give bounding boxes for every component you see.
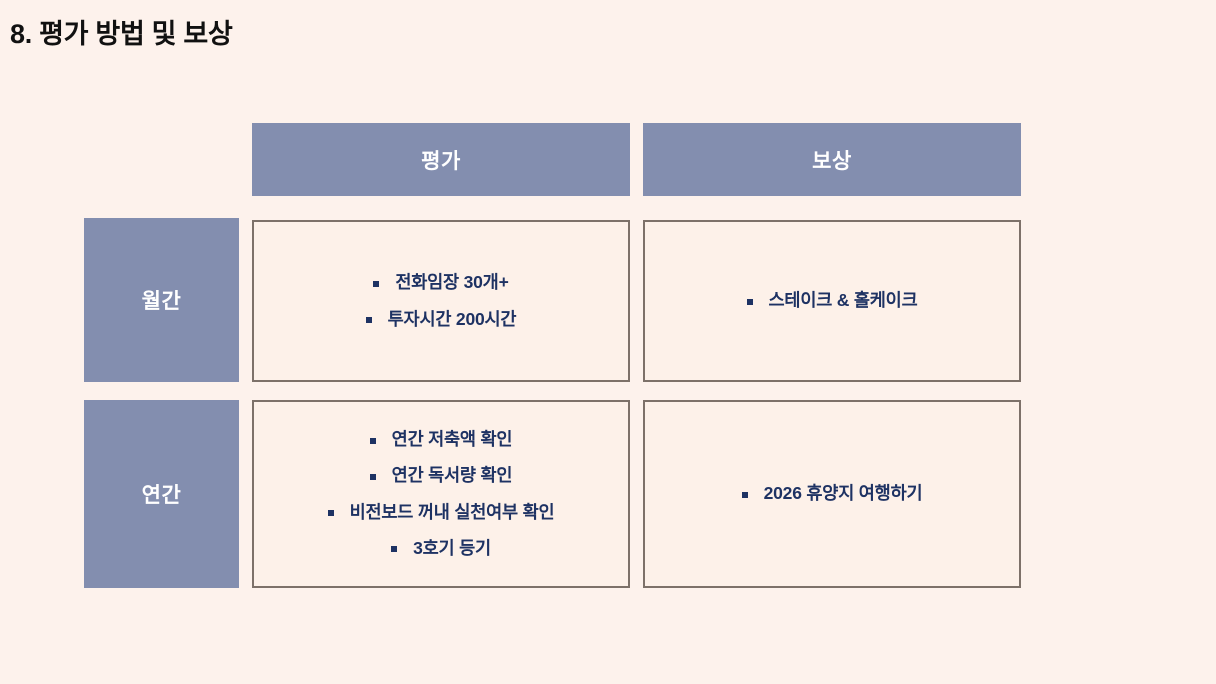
column-header-evaluation: 평가 — [252, 123, 630, 196]
square-bullet-icon — [370, 474, 376, 480]
list-item: 전화임장 30개+ — [373, 273, 508, 292]
row-header-annual-label: 연간 — [142, 479, 182, 509]
bullet-list: 전화임장 30개+ 투자시간 200시간 — [366, 273, 517, 329]
list-item: 2026 휴양지 여행하기 — [742, 484, 923, 503]
evaluation-reward-matrix: 평가 보상 월간 전화임장 30개+ 투자시간 200시간 스테이크 & 홀케이… — [84, 123, 1021, 588]
list-item-label: 3호기 등기 — [413, 539, 491, 558]
list-item: 비전보드 꺼내 실천여부 확인 — [328, 503, 555, 522]
list-item-label: 연간 독서량 확인 — [392, 466, 513, 485]
list-item: 스테이크 & 홀케이크 — [747, 291, 918, 310]
square-bullet-icon — [366, 317, 372, 323]
list-item-label: 스테이크 & 홀케이크 — [769, 291, 918, 310]
list-item-label: 2026 휴양지 여행하기 — [764, 484, 923, 503]
row-header-monthly-label: 월간 — [142, 285, 182, 315]
column-header-reward-label: 보상 — [812, 145, 852, 175]
square-bullet-icon — [370, 438, 376, 444]
square-bullet-icon — [391, 546, 397, 552]
list-item: 투자시간 200시간 — [366, 310, 517, 329]
square-bullet-icon — [373, 281, 379, 287]
cell-monthly-evaluation: 전화임장 30개+ 투자시간 200시간 — [252, 220, 630, 382]
cell-annual-reward: 2026 휴양지 여행하기 — [643, 400, 1021, 588]
cell-monthly-reward: 스테이크 & 홀케이크 — [643, 220, 1021, 382]
page-title: 8. 평가 방법 및 보상 — [10, 12, 233, 51]
list-item-label: 투자시간 200시간 — [388, 310, 517, 329]
row-header-annual: 연간 — [84, 400, 239, 588]
list-item-label: 연간 저축액 확인 — [392, 430, 513, 449]
square-bullet-icon — [742, 492, 748, 498]
column-header-evaluation-label: 평가 — [421, 145, 461, 175]
square-bullet-icon — [328, 510, 334, 516]
square-bullet-icon — [747, 299, 753, 305]
bullet-list: 연간 저축액 확인 연간 독서량 확인 비전보드 꺼내 실천여부 확인 3호기 … — [328, 430, 555, 558]
bullet-list: 2026 휴양지 여행하기 — [742, 484, 923, 503]
row-header-monthly: 월간 — [84, 218, 239, 382]
column-header-reward: 보상 — [643, 123, 1021, 196]
list-item: 연간 저축액 확인 — [370, 430, 513, 449]
bullet-list: 스테이크 & 홀케이크 — [747, 291, 918, 310]
cell-annual-evaluation: 연간 저축액 확인 연간 독서량 확인 비전보드 꺼내 실천여부 확인 3호기 … — [252, 400, 630, 588]
list-item-label: 전화임장 30개+ — [395, 273, 508, 292]
list-item-label: 비전보드 꺼내 실천여부 확인 — [350, 503, 555, 522]
list-item: 연간 독서량 확인 — [370, 466, 513, 485]
list-item: 3호기 등기 — [391, 539, 491, 558]
